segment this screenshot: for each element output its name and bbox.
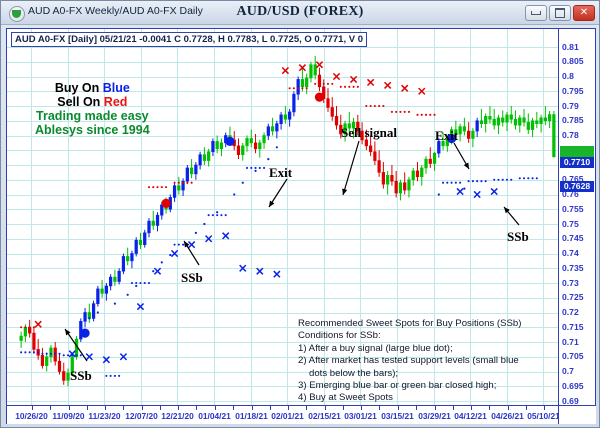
legend-item: 2) After market has tested support level… <box>298 355 521 367</box>
legend-item: dots below the bars); <box>298 368 521 380</box>
price-axis[interactable]: 0.810.8050.80.7950.790.7850.780.7750.770… <box>558 29 595 405</box>
date-tick-mark <box>105 406 106 410</box>
close-button[interactable]: ✕ <box>573 5 595 21</box>
ssb-legend: Recommended Sweet Spots for Buy Position… <box>298 318 521 405</box>
minimize-button[interactable] <box>525 5 547 21</box>
date-tick-label: 03/01/21 <box>344 411 377 421</box>
chart-plot-area[interactable]: AUD A0-FX [Daily] 05/21/21 -0.0041 C 0.7… <box>7 29 558 405</box>
date-tick-mark <box>288 406 289 410</box>
price-tick-label: 0.73 <box>562 279 579 288</box>
promo-overlay: Buy On Blue Sell On Red Trading made eas… <box>35 81 150 137</box>
legend-subtitle: Conditions for SSb: <box>298 330 521 342</box>
price-tick-label: 0.695 <box>562 382 584 391</box>
promo-line-1: Buy On Blue <box>35 81 150 95</box>
date-tick-mark <box>69 406 70 410</box>
price-tick-label: 0.74 <box>562 249 579 258</box>
date-tick-mark <box>50 406 51 410</box>
date-tick-label: 05/10/21 <box>527 411 560 421</box>
date-tick-mark <box>87 406 88 410</box>
date-tick-mark <box>416 406 417 410</box>
price-tick-label: 0.7 <box>562 367 574 376</box>
price-tick-label: 0.805 <box>562 57 584 66</box>
price-tick-label: 0.81 <box>562 43 579 52</box>
date-tick-label: 01/18/21 <box>235 411 268 421</box>
price-tick-label: 0.75 <box>562 220 579 229</box>
date-tick-mark <box>306 406 307 410</box>
legend-item: 1) After a buy signal (large blue dot); <box>298 343 521 355</box>
price-marker-green <box>560 146 594 157</box>
legend-item: 4) Buy at Sweet Spots <box>298 392 521 404</box>
chart-panel: AUD A0-FX [Daily] 05/21/21 -0.0041 C 0.7… <box>6 28 596 424</box>
price-tick-label: 0.78 <box>562 131 579 140</box>
date-tick-mark <box>453 406 454 410</box>
date-tick-mark <box>32 406 33 410</box>
date-tick-mark <box>398 406 399 410</box>
date-tick-label: 01/04/21 <box>198 411 231 421</box>
date-tick-label: 04/12/21 <box>454 411 487 421</box>
date-tick-mark <box>215 406 216 410</box>
price-tick-label: 0.735 <box>562 264 584 273</box>
price-marker-0.7710: 0.7710 <box>560 157 594 168</box>
price-tick-label: 0.79 <box>562 102 579 111</box>
price-tick-label: 0.72 <box>562 308 579 317</box>
minimize-icon <box>531 11 541 15</box>
date-tick-label: 04/26/21 <box>491 411 524 421</box>
date-tick-mark <box>435 406 436 410</box>
window-titlebar: AUD A0-FX Weekly/AUD A0-FX Daily AUD/USD… <box>1 1 599 25</box>
chart-annotation-ssb: SSb <box>70 368 92 384</box>
price-marker-0.7628: 0.7628 <box>560 181 594 192</box>
date-tick-label: 03/29/21 <box>418 411 451 421</box>
close-icon: ✕ <box>580 8 588 18</box>
promo-line-4: Ablesys since 1994 <box>35 123 150 137</box>
date-tick-label: 11/09/20 <box>52 411 84 421</box>
chart-annotation-sell-signal: Sell signal <box>341 125 397 141</box>
date-tick-mark <box>471 406 472 410</box>
date-axis[interactable]: 10/26/2011/09/2011/23/2012/07/2012/21/20… <box>7 405 558 424</box>
date-tick-mark <box>178 406 179 410</box>
date-tick-mark <box>544 406 545 410</box>
date-tick-mark <box>270 406 271 410</box>
date-tick-mark <box>160 406 161 410</box>
legend-title: Recommended Sweet Spots for Buy Position… <box>298 318 521 330</box>
date-tick-mark <box>379 406 380 410</box>
axis-corner <box>558 405 596 424</box>
window-title: AUD/USD (FOREX) <box>1 4 599 20</box>
date-tick-mark <box>142 406 143 410</box>
legend-item: 3) Emerging blue bar or green bar closed… <box>298 380 521 392</box>
chart-window: AUD A0-FX Weekly/AUD A0-FX Daily AUD/USD… <box>0 0 600 428</box>
date-tick-mark <box>489 406 490 410</box>
maximize-icon <box>555 8 565 18</box>
price-tick-label: 0.755 <box>562 205 584 214</box>
chart-annotation-exit: Exit <box>435 128 458 144</box>
price-tick-label: 0.71 <box>562 338 579 347</box>
date-tick-mark <box>123 406 124 410</box>
promo-line-3: Trading made easy <box>35 109 150 123</box>
price-tick-label: 0.785 <box>562 116 584 125</box>
date-tick-label: 03/15/21 <box>381 411 414 421</box>
date-tick-label: 11/23/20 <box>88 411 120 421</box>
chart-annotation-ssb: SSb <box>507 229 529 245</box>
maximize-button[interactable] <box>549 5 571 21</box>
chart-annotation-exit: Exit <box>269 165 292 181</box>
price-tick-label: 0.705 <box>562 352 584 361</box>
date-tick-mark <box>361 406 362 410</box>
price-tick-label: 0.795 <box>562 87 584 96</box>
date-tick-label: 12/21/20 <box>161 411 194 421</box>
date-tick-label: 12/07/20 <box>125 411 158 421</box>
date-tick-mark <box>196 406 197 410</box>
quote-line: AUD A0-FX [Daily] 05/21/21 -0.0041 C 0.7… <box>11 32 367 47</box>
date-tick-label: 02/01/21 <box>271 411 304 421</box>
price-tick-label: 0.745 <box>562 234 584 243</box>
date-tick-label: 02/15/21 <box>308 411 341 421</box>
promo-line-2: Sell On Red <box>35 95 150 109</box>
date-tick-mark <box>526 406 527 410</box>
price-tick-label: 0.715 <box>562 323 584 332</box>
date-tick-mark <box>325 406 326 410</box>
date-tick-mark <box>343 406 344 410</box>
date-tick-mark <box>233 406 234 410</box>
date-tick-mark <box>252 406 253 410</box>
date-tick-mark <box>508 406 509 410</box>
date-tick-label: 10/26/20 <box>15 411 48 421</box>
chart-annotation-ssb: SSb <box>181 270 203 286</box>
price-tick-label: 0.8 <box>562 72 574 81</box>
price-tick-label: 0.725 <box>562 293 584 302</box>
